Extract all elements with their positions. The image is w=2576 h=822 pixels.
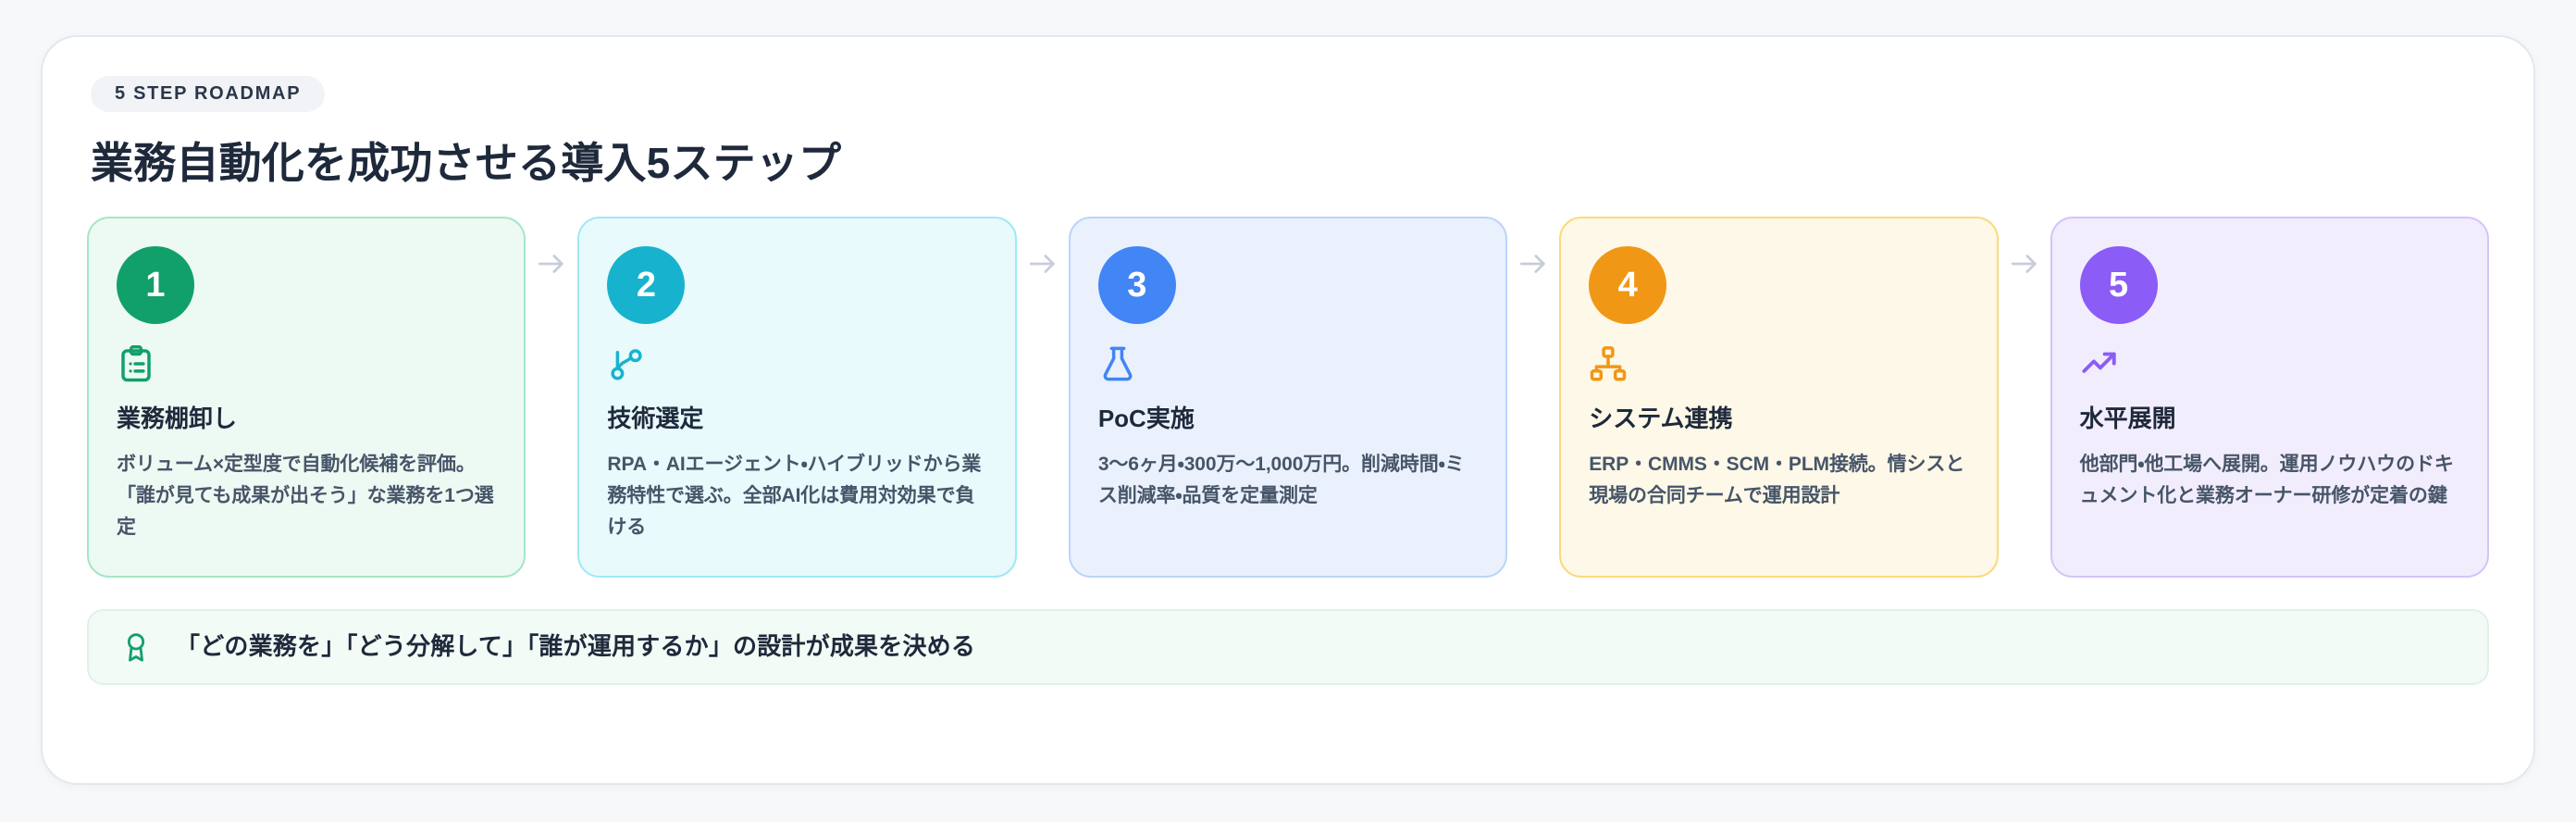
step-number-badge-3: 3 — [1098, 246, 1176, 324]
trending-up-icon — [2080, 344, 2119, 383]
step-card-3[interactable]: 3 PoC実施 3〜6ヶ月・300万〜1,000万円。削減時間・ミス削減率・品質… — [1069, 217, 1507, 578]
arrow-right-icon-1 — [526, 217, 577, 578]
eyebrow-badge: 5 STEP ROADMAP — [91, 76, 325, 112]
step-card-4[interactable]: 4 システム連携 ERP・CMMS・SCM・PLM接続。情シスと現場の合同チーム… — [1559, 217, 1998, 578]
step-number-1: 1 — [145, 268, 165, 303]
page-title: 業務自動化を成功させる導入5ステップ — [91, 138, 2489, 189]
step-card-1[interactable]: 1 業務棚卸し ボリューム×定型度で自動化候補を評価。「誰が見ても成果が出そう」… — [87, 217, 526, 578]
roadmap-panel: 5 STEP ROADMAP 業務自動化を成功させる導入5ステップ 1 — [41, 35, 2535, 785]
step-title-5: 水平展開 — [2080, 404, 2459, 434]
summary-banner: 「どの業務を」「どう分解して」「誰が運用するか」の設計が成果を決める — [87, 609, 2489, 685]
step-number-2: 2 — [637, 268, 656, 303]
arrow-right-icon-3 — [1507, 217, 1559, 578]
step-card-5[interactable]: 5 水平展開 他部門・他工場へ展開。運用ノウハウのドキュメント化と業務オーナー研… — [2050, 217, 2489, 578]
step-title-1: 業務棚卸し — [117, 404, 496, 434]
step-number-badge-5: 5 — [2080, 246, 2158, 324]
page-root: 5 STEP ROADMAP 業務自動化を成功させる導入5ステップ 1 — [0, 0, 2576, 822]
step-title-2: 技術選定 — [607, 404, 986, 434]
clipboard-list-icon — [117, 344, 155, 383]
step-number-3: 3 — [1127, 268, 1146, 303]
step-card-2[interactable]: 2 技術選定 RPA・AIエージェント・ハイブリッドから業務特性で選ぶ。全部AI… — [577, 217, 1016, 578]
arrow-right-icon-2 — [1017, 217, 1069, 578]
flask-icon — [1098, 344, 1137, 383]
summary-banner-text: 「どの業務を」「どう分解して」「誰が運用するか」の設計が成果を決める — [176, 631, 975, 663]
step-number-4: 4 — [1618, 268, 1638, 303]
step-number-badge-2: 2 — [607, 246, 685, 324]
step-title-3: PoC実施 — [1098, 404, 1478, 434]
network-hierarchy-icon — [1589, 344, 1628, 383]
step-title-4: システム連携 — [1589, 404, 1968, 434]
git-branch-icon — [607, 344, 646, 383]
step-number-badge-4: 4 — [1589, 246, 1666, 324]
step-description-1: ボリューム×定型度で自動化候補を評価。「誰が見ても成果が出そう」な業務を1つ選定 — [117, 449, 496, 543]
step-description-2: RPA・AIエージェント・ハイブリッドから業務特性で選ぶ。全部AI化は費用対効果… — [607, 449, 986, 543]
step-description-3: 3〜6ヶ月・300万〜1,000万円。削減時間・ミス削減率・品質を定量測定 — [1098, 449, 1478, 512]
steps-row: 1 業務棚卸し ボリューム×定型度で自動化候補を評価。「誰が見ても成果が出そう」… — [87, 217, 2489, 578]
arrow-right-icon-4 — [1999, 217, 2050, 578]
step-number-badge-1: 1 — [117, 246, 194, 324]
step-number-5: 5 — [2109, 268, 2128, 303]
step-description-5: 他部門・他工場へ展開。運用ノウハウのドキュメント化と業務オーナー研修が定着の鍵 — [2080, 449, 2459, 512]
step-description-4: ERP・CMMS・SCM・PLM接続。情シスと現場の合同チームで運用設計 — [1589, 449, 1968, 512]
award-ribbon-icon — [120, 631, 152, 663]
